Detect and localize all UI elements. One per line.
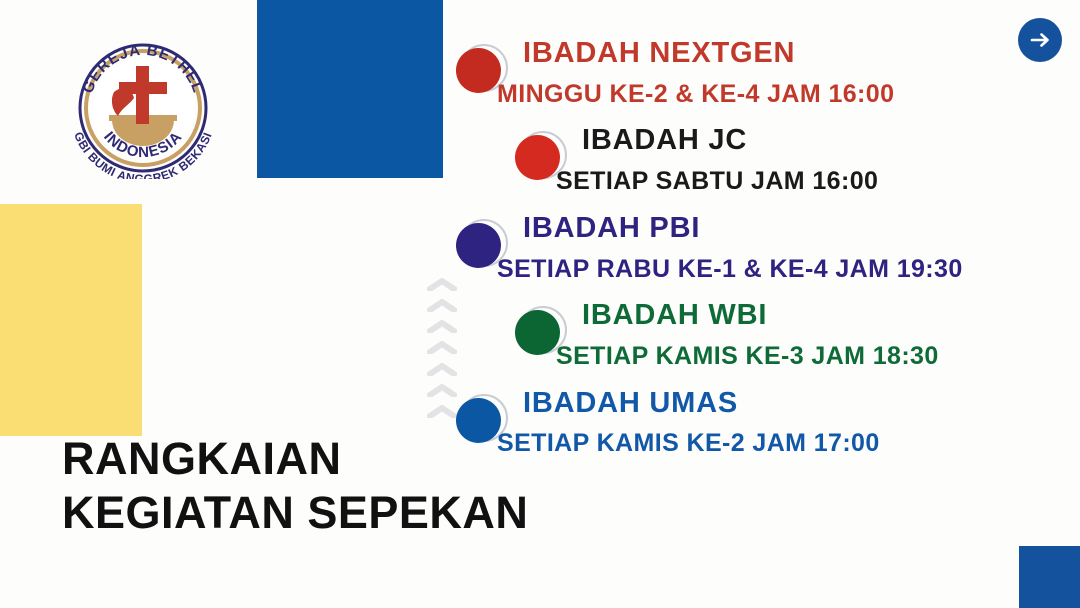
bullet-dot-fill <box>456 48 501 93</box>
list-item-text: IBADAH PBI SETIAP RABU KE-1 & KE-4 JAM 1… <box>509 209 963 283</box>
chevron-up-icon <box>427 405 457 418</box>
gbi-logo: GEREJA BETHEL INDONESIA GBI BUMI ANGGREK… <box>62 24 224 179</box>
chevron-up-icon <box>427 320 457 333</box>
list-item: IBADAH NEXTGEN MINGGU KE-2 & KE-4 JAM 16… <box>455 34 1055 108</box>
chevron-up-icon <box>427 363 457 376</box>
list-item: IBADAH PBI SETIAP RABU KE-1 & KE-4 JAM 1… <box>455 209 1055 283</box>
bullet-dot-fill <box>456 398 501 443</box>
service-schedule: SETIAP KAMIS KE-3 JAM 18:30 <box>556 343 939 371</box>
service-schedule: SETIAP KAMIS KE-2 JAM 17:00 <box>497 430 880 458</box>
list-item-text: IBADAH WBI SETIAP KAMIS KE-3 JAM 18:30 <box>568 296 939 370</box>
bullet-dot-fill <box>515 310 560 355</box>
list-item-text: IBADAH UMAS SETIAP KAMIS KE-2 JAM 17:00 <box>509 384 880 458</box>
service-schedule: SETIAP SABTU JAM 16:00 <box>556 168 878 196</box>
chevron-up-icon <box>427 384 457 397</box>
list-item-text: IBADAH JC SETIAP SABTU JAM 16:00 <box>568 121 878 195</box>
service-title: IBADAH WBI <box>582 300 939 332</box>
bullet-dot-fill <box>456 223 501 268</box>
service-title: IBADAH JC <box>582 125 878 157</box>
decor-yellow-block-left <box>0 204 142 436</box>
decor-blue-block-corner <box>1019 546 1080 608</box>
bullet-dot <box>455 392 509 446</box>
list-item: IBADAH JC SETIAP SABTU JAM 16:00 <box>514 121 1055 195</box>
list-item: IBADAH WBI SETIAP KAMIS KE-3 JAM 18:30 <box>514 296 1055 370</box>
service-schedule: SETIAP RABU KE-1 & KE-4 JAM 19:30 <box>497 256 963 284</box>
poster-canvas: GEREJA BETHEL INDONESIA GBI BUMI ANGGREK… <box>0 0 1080 608</box>
service-title: IBADAH NEXTGEN <box>523 38 894 70</box>
page-title-line1: RANGKAIAN <box>62 433 342 484</box>
service-title: IBADAH PBI <box>523 213 963 245</box>
decor-blue-block-top <box>257 0 443 178</box>
service-schedule: MINGGU KE-2 & KE-4 JAM 16:00 <box>497 81 894 109</box>
list-item: IBADAH UMAS SETIAP KAMIS KE-2 JAM 17:00 <box>455 384 1055 458</box>
bullet-dot <box>455 217 509 271</box>
bullet-dot <box>514 129 568 183</box>
bullet-dot <box>514 304 568 358</box>
page-title-line2: KEGIATAN SEPEKAN <box>62 487 528 538</box>
service-title: IBADAH UMAS <box>523 388 880 420</box>
list-item-text: IBADAH NEXTGEN MINGGU KE-2 & KE-4 JAM 16… <box>509 34 894 108</box>
chevron-up-icon <box>427 299 457 312</box>
bullet-dot <box>455 42 509 96</box>
chevron-up-icon <box>427 278 457 291</box>
chevron-up-icon <box>427 341 457 354</box>
schedule-list: IBADAH NEXTGEN MINGGU KE-2 & KE-4 JAM 16… <box>455 34 1055 471</box>
